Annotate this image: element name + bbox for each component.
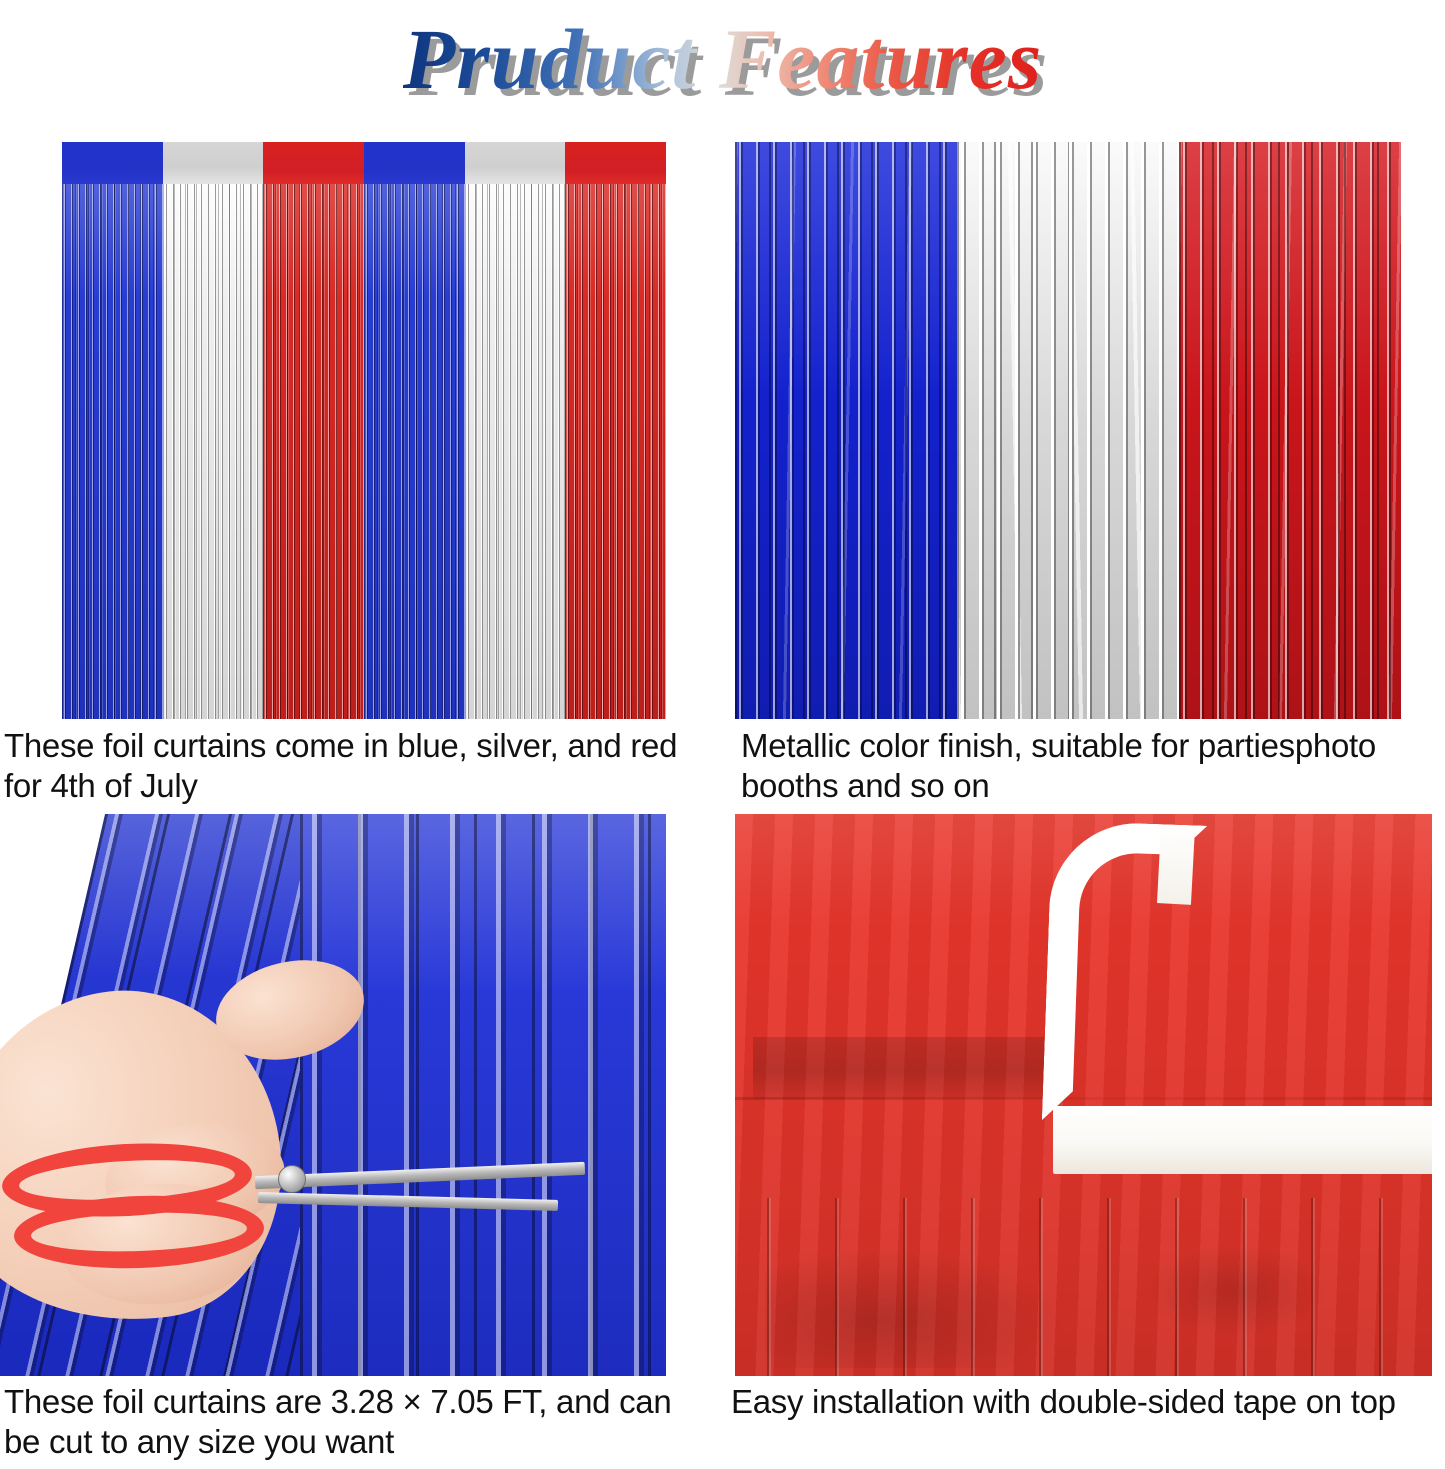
- foil-shadow-band: [753, 1037, 1053, 1099]
- page-title: Pruduct Features Pruduct Features: [0, 0, 1445, 118]
- panel-header-band: [565, 142, 666, 184]
- fringe-texture: [263, 180, 364, 719]
- title-stack: Pruduct Features Pruduct Features: [403, 16, 1043, 102]
- fringe-texture: [364, 180, 465, 719]
- fringe-texture: [565, 180, 666, 719]
- page-title-text: Pruduct Features: [403, 16, 1043, 102]
- fringe-texture: [62, 180, 163, 719]
- curtain-panel-blue-1: [62, 142, 163, 719]
- caption-installation: Easy installation with double-sided tape…: [731, 1382, 1445, 1422]
- caption-colors: These foil curtains come in blue, silver…: [4, 726, 694, 807]
- fringe-texture: [465, 180, 566, 719]
- metallic-panel-red: [1179, 142, 1401, 719]
- panel-header-band: [465, 142, 566, 184]
- curtain-panel-red-2: [565, 142, 666, 719]
- foil-highlight-right: [1145, 1246, 1325, 1336]
- metallic-panel-blue: [735, 142, 957, 719]
- panel-header-band: [62, 142, 163, 184]
- feature-photo-colors: [62, 142, 666, 719]
- curtain-panel-silver-1: [163, 142, 264, 719]
- feature-photo-installation: [735, 814, 1432, 1376]
- fringe-texture: [163, 180, 264, 719]
- metallic-panel-silver: [957, 142, 1179, 719]
- curtain-panel-blue-2: [364, 142, 465, 719]
- blue-foil-fan-right: [300, 814, 666, 1376]
- caption-size: These foil curtains are 3.28 × 7.05 FT, …: [4, 1382, 694, 1463]
- panel-header-band: [163, 142, 264, 184]
- feature-photo-cutting: [0, 814, 666, 1376]
- panel-header-band: [364, 142, 465, 184]
- product-features-page: Pruduct Features Pruduct Features: [0, 0, 1445, 1469]
- panel-header-band: [263, 142, 364, 184]
- curtain-panel-red-1: [263, 142, 364, 719]
- tape-peeled-tip: [1157, 825, 1195, 905]
- caption-metallic: Metallic color finish, suitable for part…: [741, 726, 1445, 807]
- foil-highlight-left: [765, 1248, 1065, 1368]
- curtain-panel-silver-2: [465, 142, 566, 719]
- feature-photo-metallic: [735, 142, 1401, 719]
- scissors-pivot-screw: [278, 1165, 306, 1193]
